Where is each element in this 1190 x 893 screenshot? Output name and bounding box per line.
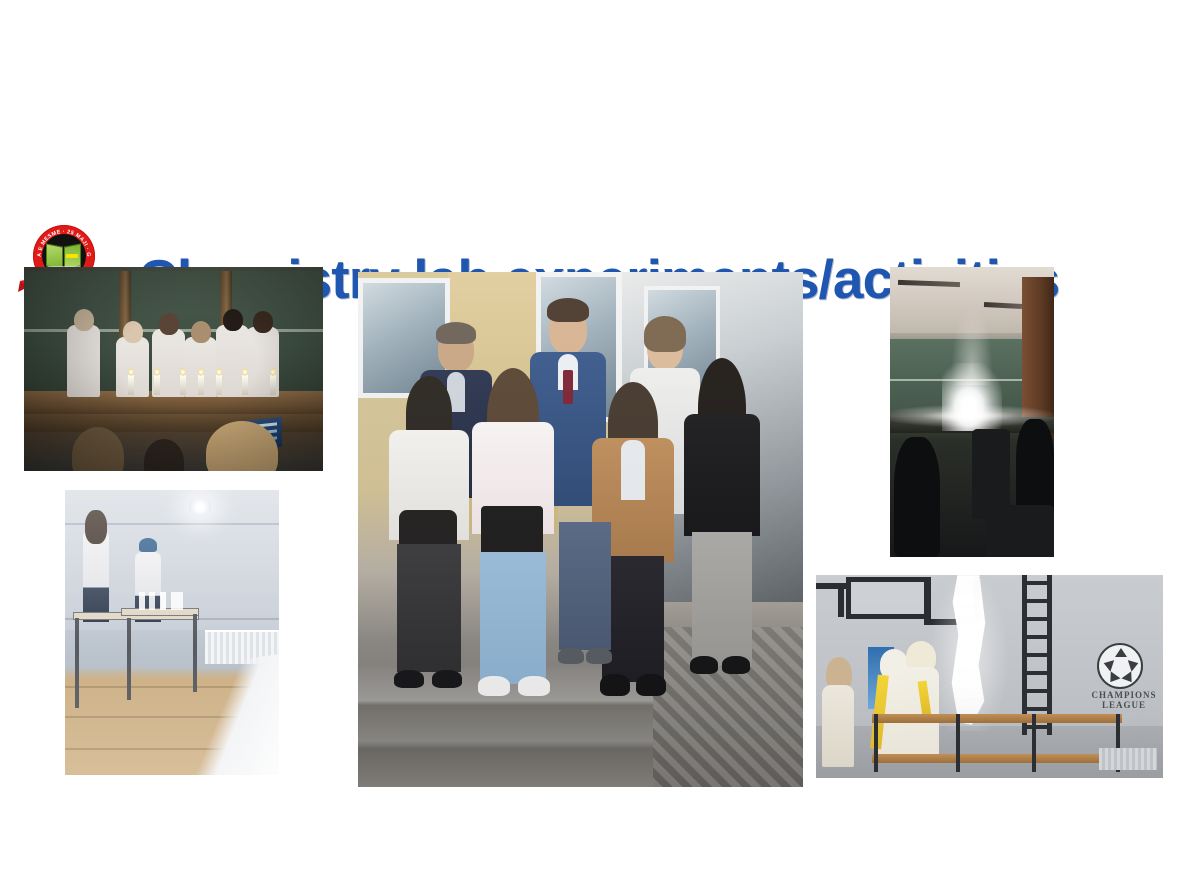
slide-canvas: SHKOLLA E MESME · 25 MAJI · GJAKOVË Chem… — [0, 0, 1190, 893]
champions-league-wall-graphic: CHAMPIONS LEAGUE — [1089, 643, 1155, 709]
book-bookmark — [66, 254, 78, 258]
photo-group: Group photo of two teachers in suits and… — [358, 272, 803, 787]
champions-league-label: CHAMPIONS LEAGUE — [1085, 690, 1163, 711]
photo-classroom-demo: Students in white lab coats standing beh… — [24, 267, 323, 471]
photo-foam-eruption: CHAMPIONS LEAGUE Students in white prote… — [816, 575, 1163, 778]
photo-flash-experiment: Darkened chemistry classroom lit by a br… — [890, 267, 1054, 557]
slide-header: SHKOLLA E MESME · 25 MAJI · GJAKOVË Chem… — [0, 110, 1190, 220]
photo-gym-tables: Two students preparing chemicals on tabl… — [65, 490, 279, 775]
